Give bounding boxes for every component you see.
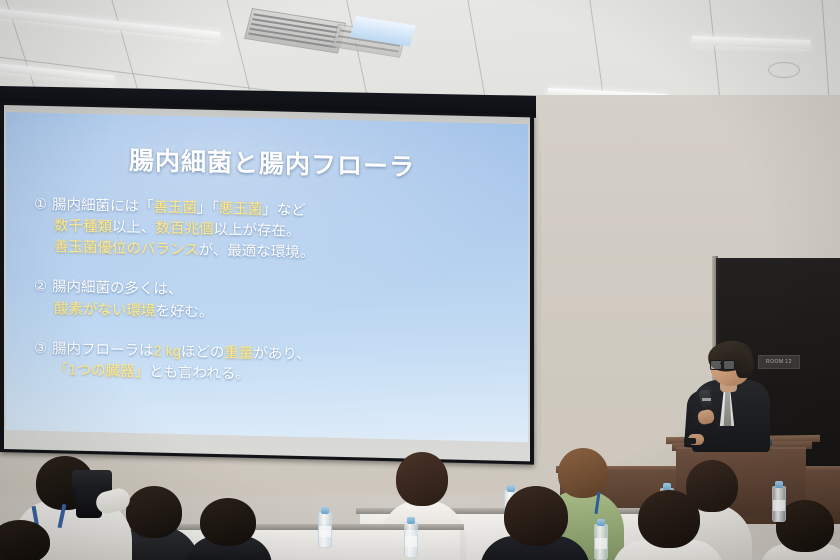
slide-text-highlight: 数千種類 bbox=[54, 218, 112, 235]
attendee-head bbox=[504, 486, 568, 546]
attendee-head bbox=[200, 498, 256, 546]
slide-text-highlight: 2 kg bbox=[154, 343, 181, 360]
microphone-band bbox=[702, 398, 711, 401]
attendee-left-edge bbox=[0, 520, 60, 560]
slide-text: を好む。 bbox=[156, 303, 214, 320]
attendee-head bbox=[0, 520, 50, 560]
presentation-clicker[interactable] bbox=[684, 438, 696, 444]
slide-content: 腸内細菌と腸内フローラ ①腸内細菌には「善玉菌」「悪玉菌」など数千種類以上、数百… bbox=[6, 112, 528, 442]
slide-text: があり、 bbox=[253, 346, 310, 363]
projection-screen: 腸内細菌と腸内フローラ ①腸内細菌には「善玉菌」「悪玉菌」など数千種類以上、数百… bbox=[0, 86, 542, 454]
slide-bullet-marker: ② bbox=[34, 277, 52, 299]
slide-text-highlight: 酸素がない環境 bbox=[54, 301, 156, 319]
slide-text: 」など bbox=[262, 202, 306, 219]
attendee-4 bbox=[480, 486, 590, 560]
slide-bullet: ③腸内フローラは2 kgほどの重量があり、「1つの臓器」とも言われる。 bbox=[34, 338, 510, 392]
attendee-head bbox=[638, 490, 700, 548]
slide-text: 」「 bbox=[197, 201, 219, 218]
slide-text-highlight: 「1つの臓器」 bbox=[54, 362, 149, 380]
slide-text-highlight: 善玉菌優位のバランス bbox=[54, 239, 199, 258]
projected-slide: 腸内細菌と腸内フローラ ①腸内細菌には「善玉菌」「悪玉菌」など数千種類以上、数百… bbox=[6, 112, 528, 442]
slide-bullet-marker: ① bbox=[34, 195, 52, 217]
slide-bullet-list: ①腸内細菌には「善玉菌」「悪玉菌」など数千種類以上、数百兆個以上が存在。善玉菌優… bbox=[34, 195, 510, 392]
ceiling-speaker bbox=[768, 62, 800, 78]
slide-text: が、最適な環境。 bbox=[199, 243, 315, 262]
slide-text: ほどの bbox=[181, 344, 225, 361]
attendee-3 bbox=[186, 498, 272, 560]
attendee-head bbox=[126, 486, 182, 538]
slide-bullet-marker: ③ bbox=[34, 338, 52, 360]
slide-text-highlight: 善玉菌 bbox=[154, 199, 198, 216]
slide-text: 腸内フローラは bbox=[52, 341, 154, 359]
speaker-hair-back bbox=[736, 350, 754, 378]
slide-text: 以上が存在。 bbox=[214, 222, 301, 240]
attendee-8 bbox=[612, 490, 724, 560]
glasses-icon bbox=[710, 360, 735, 368]
slide-text-highlight: 重量 bbox=[224, 345, 253, 362]
slide-title: 腸内細菌と腸内フローラ bbox=[34, 139, 510, 186]
slide-text: 以上、 bbox=[112, 220, 156, 237]
slide-text-highlight: 数百兆個 bbox=[156, 221, 214, 238]
water-bottle[interactable] bbox=[318, 512, 332, 548]
water-bottle[interactable] bbox=[404, 522, 418, 558]
attendee-head bbox=[396, 452, 448, 506]
slide-text: とも言われる。 bbox=[149, 364, 250, 382]
slide-bullet: ①腸内細菌には「善玉菌」「悪玉菌」など数千種類以上、数百兆個以上が存在。善玉菌優… bbox=[34, 195, 510, 270]
slide-text-highlight: 悪玉菌 bbox=[219, 201, 263, 218]
lecture-hall-photo: ROOM 12 腸内細菌と腸内フローラ ①腸内細菌には「善玉菌」「悪玉菌」など数… bbox=[0, 0, 840, 560]
speaker-presenter bbox=[684, 338, 774, 450]
slide-text: 腸内細菌には「 bbox=[52, 197, 154, 215]
water-bottle[interactable] bbox=[772, 486, 786, 522]
water-bottle[interactable] bbox=[594, 524, 608, 560]
slide-text: 腸内細菌の多くは、 bbox=[52, 280, 183, 299]
slide-bullet: ②腸内細菌の多くは、酸素がない環境を好む。 bbox=[34, 277, 510, 331]
ceiling-light bbox=[692, 36, 810, 49]
